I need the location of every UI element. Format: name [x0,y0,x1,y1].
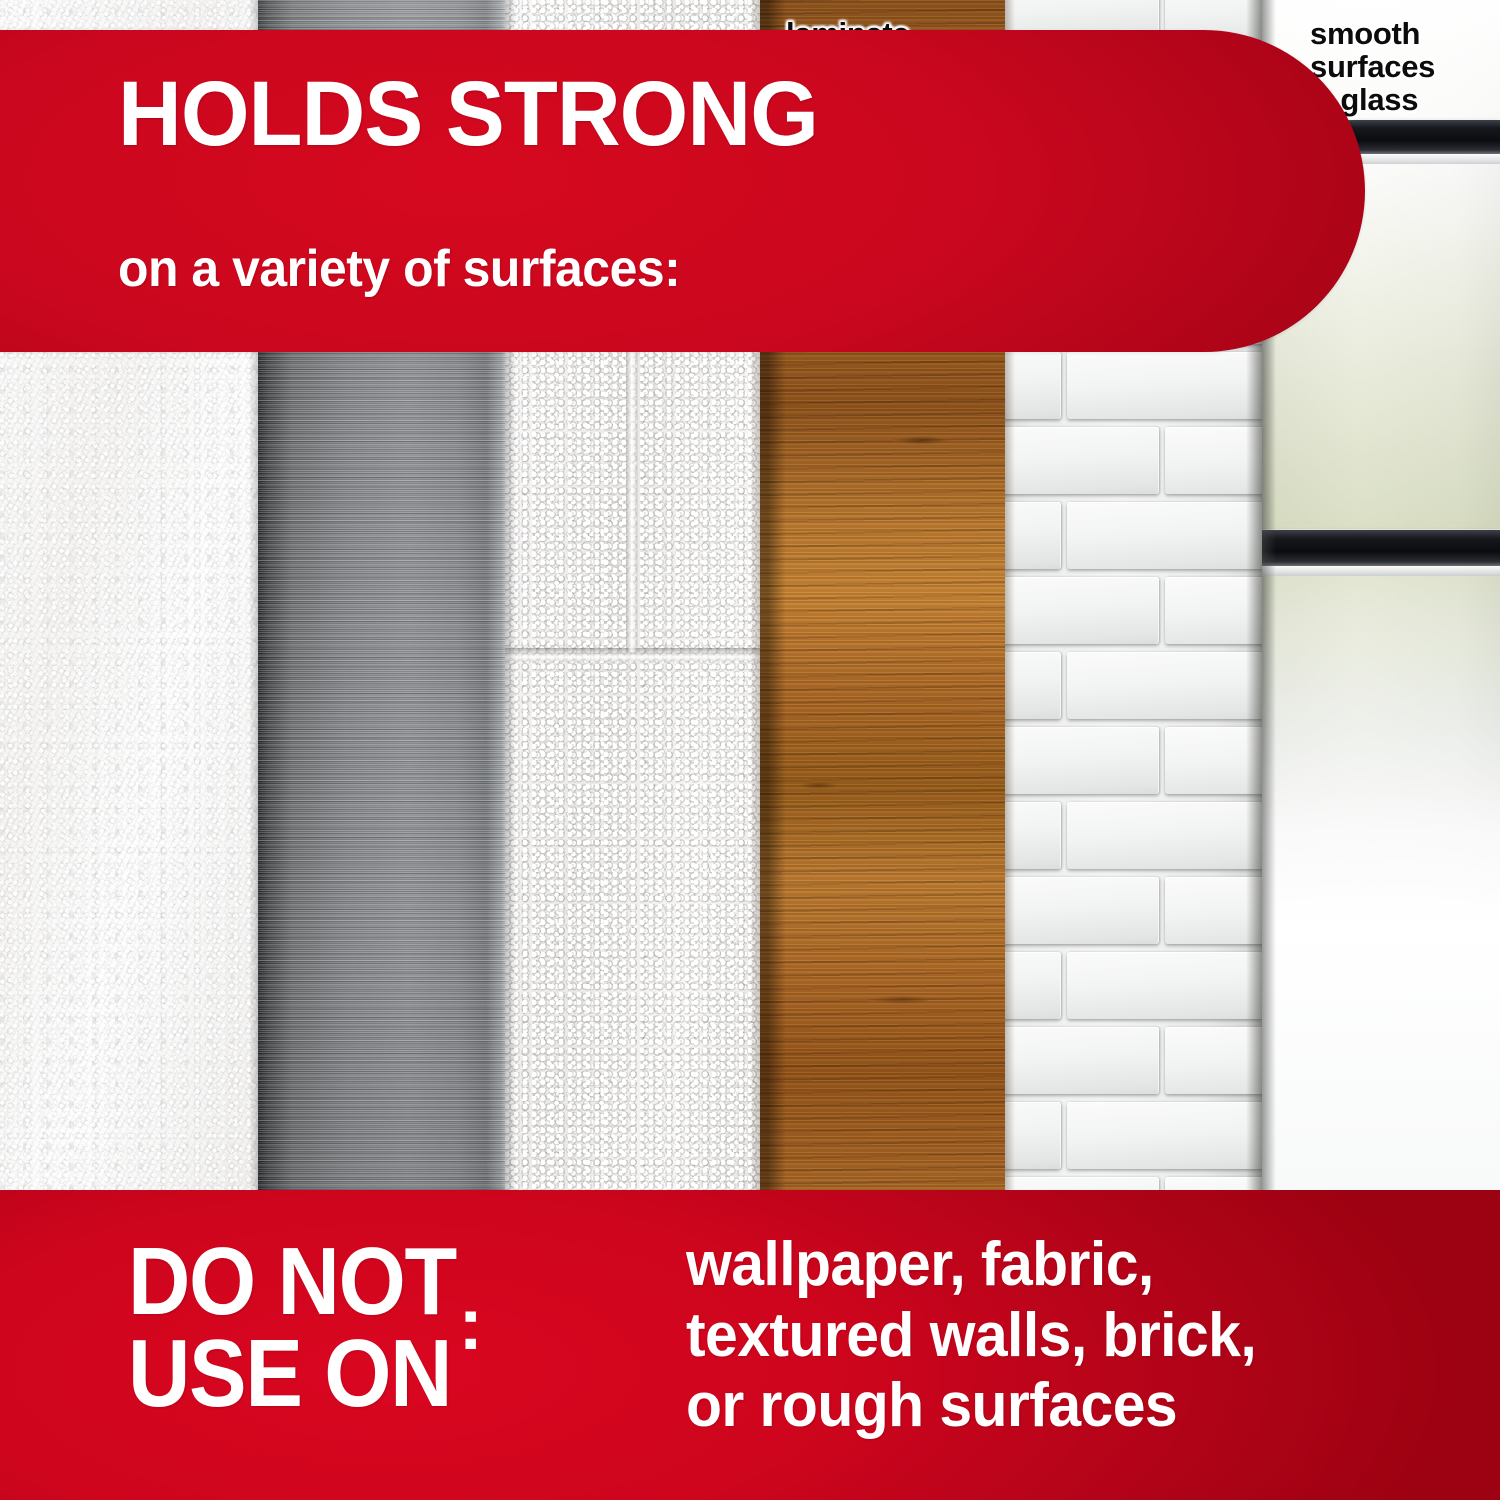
warning-heading-group: DO NOT USE ON : [128,1236,483,1420]
tile [1005,1027,1159,1094]
warning-heading-text: DO NOT USE ON [128,1236,456,1420]
window-sill [1262,566,1500,576]
window-frame-bar [1262,530,1500,566]
tile-row [1005,949,1262,1024]
tile [1067,952,1262,1019]
tile [1067,652,1262,719]
tile-row [1005,649,1262,724]
tile [1005,577,1159,644]
headline-text: HOLDS STRONG [118,68,818,160]
mortar-joint-vertical [626,306,638,652]
warning-separator-colon: : [458,1287,483,1361]
tile [1067,502,1262,569]
warning-banner: DO NOT USE ON : wallpaper, fabric, textu… [0,1190,1500,1500]
tile-row [1005,1024,1262,1099]
tile [1005,1177,1159,1190]
tile-row [1005,799,1262,874]
tile-row [1005,724,1262,799]
tile [1067,352,1262,419]
tile-row [1005,424,1262,499]
tile [1067,802,1262,869]
headline-banner: HOLDS STRONG on a variety of surfaces: [0,30,1365,352]
tile-row [1005,1099,1262,1174]
tile [1067,1102,1262,1169]
tile [1005,727,1159,794]
subheadline-text: on a variety of surfaces: [118,243,680,295]
warning-list-text: wallpaper, fabric, textured walls, brick… [686,1230,1256,1442]
tile [1005,427,1159,494]
tile-row [1005,574,1262,649]
tile-row [1005,499,1262,574]
tile [1005,877,1159,944]
tile-row [1005,349,1262,424]
infographic-canvas: painted walls metal painted concrete lam… [0,0,1500,1500]
tile-row [1005,1174,1262,1190]
tile-row [1005,874,1262,949]
